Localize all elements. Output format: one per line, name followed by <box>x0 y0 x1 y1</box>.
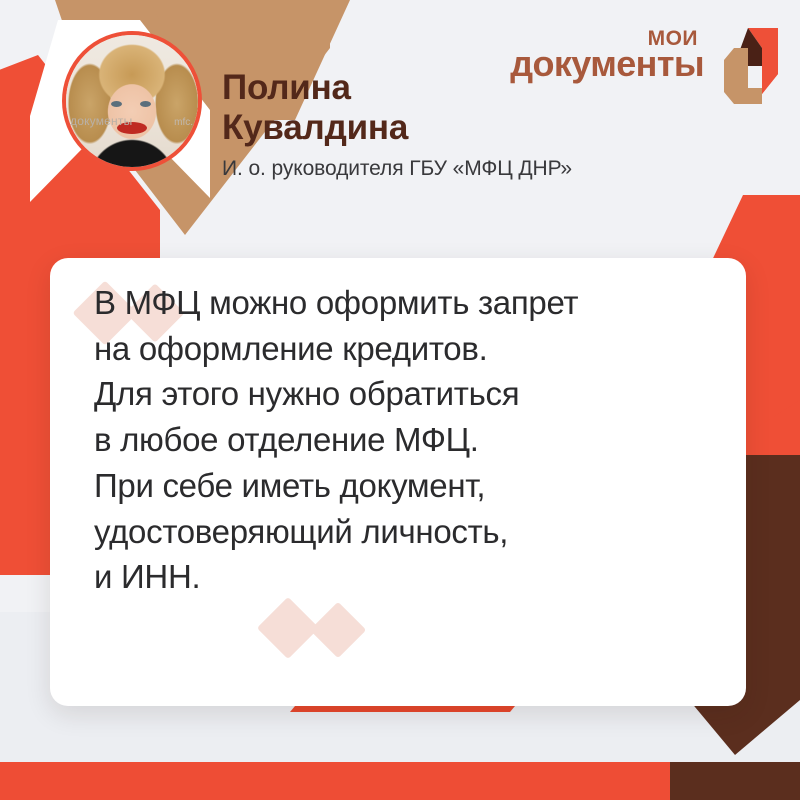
avatar-backdrop-watermark-left: документы <box>70 114 132 128</box>
speaker-role: И. о. руководителя ГБУ «МФЦ ДНР» <box>222 157 572 181</box>
poster-canvas: документы mfc. Полина Кувалдина И. о. ру… <box>0 0 800 800</box>
card-body-text: В МФЦ можно оформить запрет на оформлени… <box>94 280 726 600</box>
bg-bottom-red-bar <box>0 762 670 800</box>
avatar-backdrop-watermark-right: mfc. <box>174 117 193 128</box>
avatar: документы mfc. <box>62 31 202 171</box>
speaker-block: Полина Кувалдина И. о. руководителя ГБУ … <box>222 68 572 181</box>
mfc-logo: МОИ документы <box>552 24 782 108</box>
avatar-photo <box>66 35 198 167</box>
avatar-eye-right <box>140 101 151 107</box>
watermark-diamond-icon <box>310 602 367 659</box>
message-card: В МФЦ можно оформить запрет на оформлени… <box>50 258 746 706</box>
mfc-shield-icon <box>716 26 780 106</box>
poster-header: документы mfc. Полина Кувалдина И. о. ру… <box>0 0 800 240</box>
avatar-eye-left <box>111 101 122 107</box>
watermark-diamond-icon <box>257 597 319 659</box>
bg-bottom-brown-bar <box>670 762 800 800</box>
logo-main-word: документы <box>510 46 704 82</box>
